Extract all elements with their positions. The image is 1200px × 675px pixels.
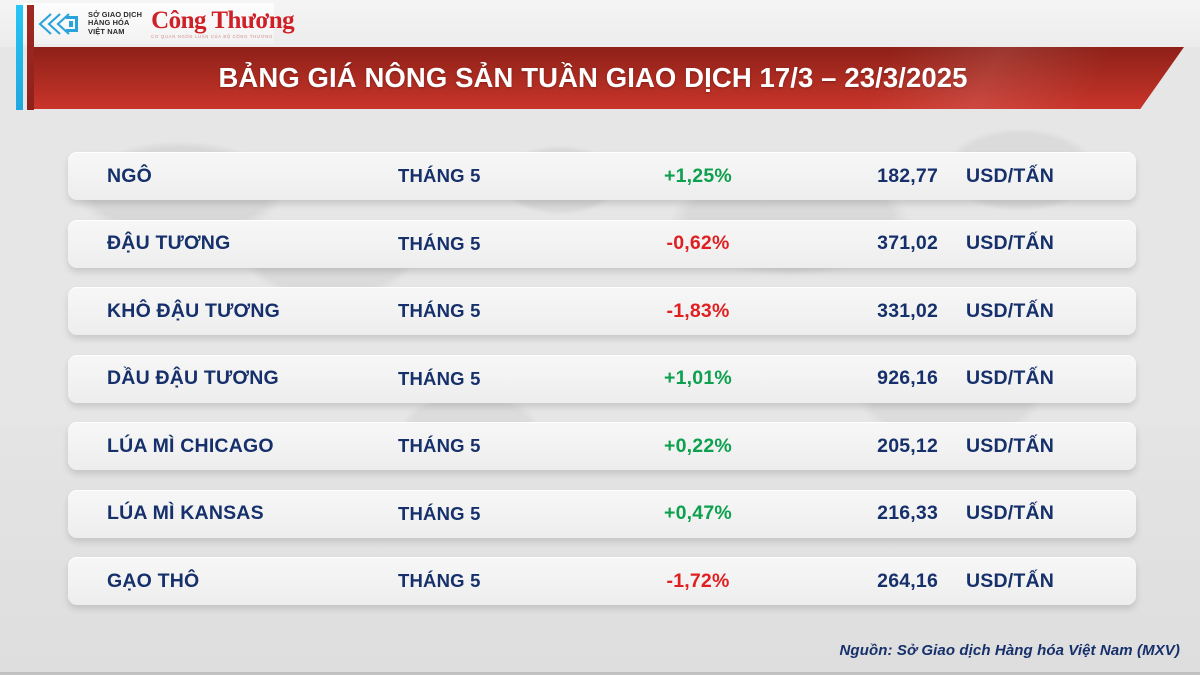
- price-change-percent: -1,83%: [598, 300, 798, 323]
- contract-month: THÁNG 5: [398, 233, 598, 255]
- table-row: ĐẬU TƯƠNGTHÁNG 5-0,62%371,02USD/TẤN: [68, 220, 1136, 268]
- price-unit: USD/TẤN: [938, 300, 1098, 323]
- price-change-percent: -0,62%: [598, 232, 798, 255]
- price-change-percent: -1,72%: [598, 570, 798, 593]
- commodity-name: KHÔ ĐẬU TƯƠNG: [68, 300, 398, 323]
- price-change-percent: +1,01%: [598, 367, 798, 390]
- page-title: BẢNG GIÁ NÔNG SẢN TUẦN GIAO DỊCH 17/3 – …: [218, 62, 967, 94]
- table-row: NGÔTHÁNG 5+1,25%182,77USD/TẤN: [68, 152, 1136, 200]
- price-table: NGÔTHÁNG 5+1,25%182,77USD/TẤNĐẬU TƯƠNGTH…: [68, 152, 1136, 625]
- contract-month: THÁNG 5: [398, 435, 598, 457]
- price-change-percent: +0,47%: [598, 502, 798, 525]
- price-value: 926,16: [798, 367, 938, 390]
- commodity-name: LÚA MÌ CHICAGO: [68, 435, 398, 458]
- contract-month: THÁNG 5: [398, 300, 598, 322]
- contract-month: THÁNG 5: [398, 165, 598, 187]
- table-row: LÚA MÌ KANSASTHÁNG 5+0,47%216,33USD/TẤN: [68, 490, 1136, 538]
- price-value: 182,77: [798, 165, 938, 188]
- price-unit: USD/TẤN: [938, 502, 1098, 525]
- price-unit: USD/TẤN: [938, 570, 1098, 593]
- price-value: 331,02: [798, 300, 938, 323]
- title-banner: BẢNG GIÁ NÔNG SẢN TUẦN GIAO DỊCH 17/3 – …: [34, 47, 1184, 109]
- price-unit: USD/TẤN: [938, 367, 1098, 390]
- price-unit: USD/TẤN: [938, 435, 1098, 458]
- source-note: Nguồn: Sở Giao dịch Hàng hóa Việt Nam (M…: [840, 642, 1181, 659]
- contract-month: THÁNG 5: [398, 503, 598, 525]
- cong-thuong-tagline: CƠ QUAN NGÔN LUẬN CỦA BỘ CÔNG THƯƠNG: [151, 34, 294, 39]
- infographic-canvas: SỞ GIAO DỊCH HÀNG HÓA VIỆT NAM Công Thươ…: [0, 0, 1200, 675]
- price-unit: USD/TẤN: [938, 165, 1098, 188]
- accent-bar-cyan: [16, 5, 23, 110]
- mxv-wordmark: SỞ GIAO DỊCH HÀNG HÓA VIỆT NAM: [88, 11, 142, 37]
- commodity-name: NGÔ: [68, 165, 398, 188]
- cong-thuong-logo: Công Thương CƠ QUAN NGÔN LUẬN CỦA BỘ CÔN…: [151, 8, 294, 39]
- price-value: 264,16: [798, 570, 938, 593]
- logo-plate: SỞ GIAO DỊCH HÀNG HÓA VIỆT NAM Công Thươ…: [22, 3, 274, 44]
- accent-bar-red: [27, 5, 34, 110]
- commodity-name: DẦU ĐẬU TƯƠNG: [68, 367, 398, 390]
- cong-thuong-wordmark: Công Thương: [151, 8, 294, 33]
- table-row: LÚA MÌ CHICAGOTHÁNG 5+0,22%205,12USD/TẤN: [68, 422, 1136, 470]
- table-row: DẦU ĐẬU TƯƠNGTHÁNG 5+1,01%926,16USD/TẤN: [68, 355, 1136, 403]
- table-row: GẠO THÔTHÁNG 5-1,72%264,16USD/TẤN: [68, 557, 1136, 605]
- table-row: KHÔ ĐẬU TƯƠNGTHÁNG 5-1,83%331,02USD/TẤN: [68, 287, 1136, 335]
- price-value: 205,12: [798, 435, 938, 458]
- mxv-wordmark-line3: VIỆT NAM: [88, 28, 142, 37]
- price-change-percent: +0,22%: [598, 435, 798, 458]
- price-change-percent: +1,25%: [598, 165, 798, 188]
- price-value: 216,33: [798, 502, 938, 525]
- contract-month: THÁNG 5: [398, 368, 598, 390]
- price-value: 371,02: [798, 232, 938, 255]
- commodity-name: ĐẬU TƯƠNG: [68, 232, 398, 255]
- contract-month: THÁNG 5: [398, 570, 598, 592]
- price-unit: USD/TẤN: [938, 232, 1098, 255]
- logo-bar: SỞ GIAO DỊCH HÀNG HÓA VIỆT NAM Công Thươ…: [0, 0, 1200, 47]
- commodity-name: LÚA MÌ KANSAS: [68, 502, 398, 525]
- mxv-chevron-logo-icon: [36, 11, 82, 37]
- commodity-name: GẠO THÔ: [68, 570, 398, 593]
